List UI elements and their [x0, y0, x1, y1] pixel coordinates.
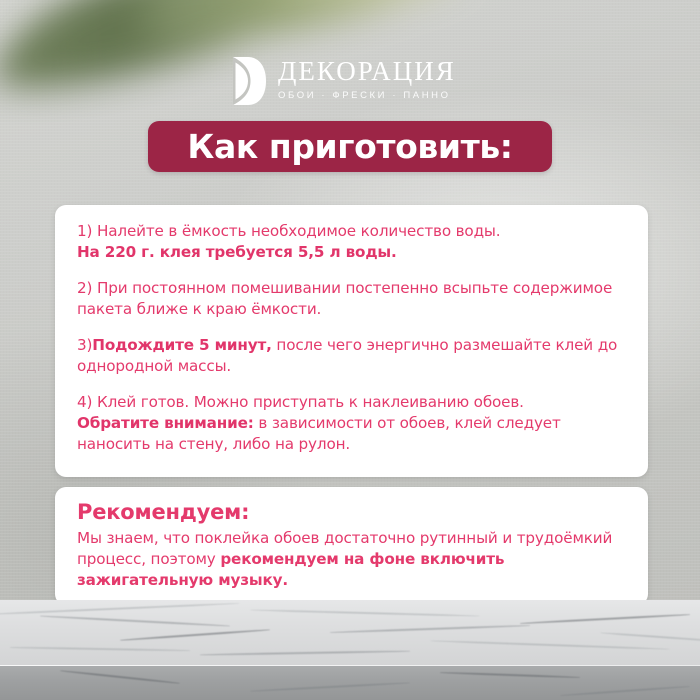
brand-logo: ДЕКОРАЦИЯ ОБОИ · ФРЕСКИ · ПАННО [232, 56, 472, 108]
step-item: 1) Налейте в ёмкость необходимое количес… [77, 221, 626, 263]
recommendation-body: Мы знаем, что поклейка обоев достаточно … [77, 528, 626, 591]
decoracia-d-monogram-icon [232, 57, 266, 105]
recommendation-title: Рекомендуем: [77, 499, 626, 525]
recommendation-card: Рекомендуем: Мы знаем, что поклейка обое… [55, 487, 648, 605]
marble-top-surface [0, 600, 700, 666]
page-title: Как приготовить: [187, 130, 512, 163]
step-item: 2) При постоянном помешивании постепенно… [77, 278, 626, 320]
marble-countertop [0, 600, 700, 700]
brand-name: ДЕКОРАЦИЯ [278, 56, 474, 86]
title-banner: Как приготовить: [148, 121, 552, 172]
poster-canvas: ДЕКОРАЦИЯ ОБОИ · ФРЕСКИ · ПАННО Как приг… [0, 0, 700, 700]
brand-wordmark: ДЕКОРАЦИЯ ОБОИ · ФРЕСКИ · ПАННО [278, 56, 474, 103]
instructions-card: 1) Налейте в ёмкость необходимое количес… [55, 205, 648, 477]
step-item: 3)Подождите 5 минут, после чего энергичн… [77, 335, 626, 377]
instructions-list: 1) Налейте в ёмкость необходимое количес… [55, 205, 648, 455]
step-item: 4) Клей готов. Можно приступать к наклеи… [77, 392, 626, 455]
marble-front-edge [0, 666, 700, 700]
brand-tagline: ОБОИ · ФРЕСКИ · ПАННО [278, 89, 474, 103]
recommendation-content: Рекомендуем: Мы знаем, что поклейка обое… [55, 487, 648, 591]
